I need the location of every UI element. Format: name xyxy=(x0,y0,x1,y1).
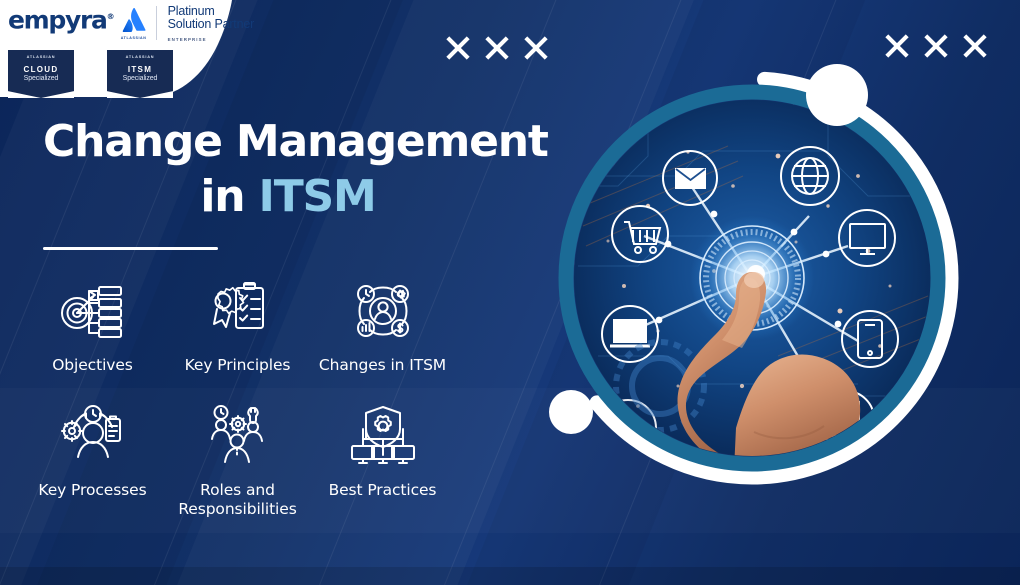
partner-line-3: ENTERPRISE xyxy=(168,33,254,46)
team-roles-icon xyxy=(208,397,268,473)
badge-name: CLOUD xyxy=(24,65,59,74)
x-mark-icon xyxy=(961,32,989,60)
target-checklist-icon xyxy=(59,272,127,348)
shield-gear-network-icon xyxy=(350,397,416,473)
feature-label: Changes in ITSM xyxy=(319,356,446,375)
empyra-wordmark: empyra xyxy=(8,5,107,34)
feature-changes-in-itsm[interactable]: Changes in ITSM xyxy=(310,272,455,375)
title-line-2: in ITSM xyxy=(43,169,533,224)
poster-canvas: empyra® ATLASSIAN Platinum Solution Part… xyxy=(0,0,1020,585)
feature-key-processes[interactable]: Key Processes xyxy=(20,397,165,519)
title-line-1: Change Management xyxy=(43,116,548,167)
trademark-symbol: ® xyxy=(107,12,115,21)
feature-key-principles[interactable]: Key Principles xyxy=(165,272,310,375)
footer-strip xyxy=(0,567,1020,585)
feature-label: Roles andResponsibilities xyxy=(178,481,296,519)
x-marks-right xyxy=(883,32,989,60)
atlassian-wordmark: ATLASSIAN xyxy=(121,36,147,40)
title-accent-itsm: ITSM xyxy=(259,171,376,222)
badge-level: Specialized xyxy=(123,75,158,82)
partner-status: Platinum Solution Partner ENTERPRISE xyxy=(168,5,254,46)
feature-roles-responsibilities[interactable]: Roles andResponsibilities xyxy=(165,397,310,519)
hero-dot-small xyxy=(549,390,593,434)
brand-lockup: empyra® ATLASSIAN Platinum Solution Part… xyxy=(8,4,254,46)
x-marks-left xyxy=(444,34,550,62)
feature-row-2: Key Processes xyxy=(20,397,500,519)
badge-vendor: ATLASSIAN xyxy=(27,55,56,59)
title-line-2-prefix: in xyxy=(200,171,258,222)
atlassian-mark-icon xyxy=(121,7,147,33)
empyra-logo: empyra® xyxy=(8,4,115,33)
feature-objectives[interactable]: Objectives xyxy=(20,272,165,375)
roles-line-1: Roles and xyxy=(200,481,275,499)
people-gear-clock-icon xyxy=(60,397,126,473)
badge-name: ITSM xyxy=(128,65,152,74)
feature-label: Best Practices xyxy=(329,481,437,500)
page-title: Change Management in ITSM xyxy=(43,114,573,224)
x-mark-icon xyxy=(922,32,950,60)
roles-line-2: Responsibilities xyxy=(178,500,296,518)
feature-label: Objectives xyxy=(52,356,133,375)
x-mark-icon xyxy=(444,34,472,62)
feature-label: Key Processes xyxy=(38,481,146,500)
partner-line-2: Solution Partner xyxy=(168,18,254,31)
hero-dot-large xyxy=(806,64,868,126)
feature-best-practices[interactable]: Best Practices xyxy=(310,397,455,519)
title-divider xyxy=(43,247,218,250)
feature-label: Key Principles xyxy=(185,356,291,375)
award-clipboard-icon xyxy=(204,272,272,348)
badge-level: Specialized xyxy=(24,75,59,82)
x-mark-icon xyxy=(522,34,550,62)
x-mark-icon xyxy=(483,34,511,62)
badge-vendor: ATLASSIAN xyxy=(126,55,155,59)
x-mark-icon xyxy=(883,32,911,60)
certification-badges: ATLASSIAN CLOUD Specialized ATLASSIAN IT… xyxy=(8,50,173,98)
hero-illustration xyxy=(528,56,998,521)
user-process-cycle-icon xyxy=(352,272,414,348)
badge-cloud-specialized: ATLASSIAN CLOUD Specialized xyxy=(8,50,74,98)
badge-itsm-specialized: ATLASSIAN ITSM Specialized xyxy=(107,50,173,98)
feature-grid: Objectives xyxy=(20,272,500,519)
feature-row-1: Objectives xyxy=(20,272,500,375)
atlassian-logo: ATLASSIAN xyxy=(121,4,147,40)
logo-divider xyxy=(156,6,157,40)
